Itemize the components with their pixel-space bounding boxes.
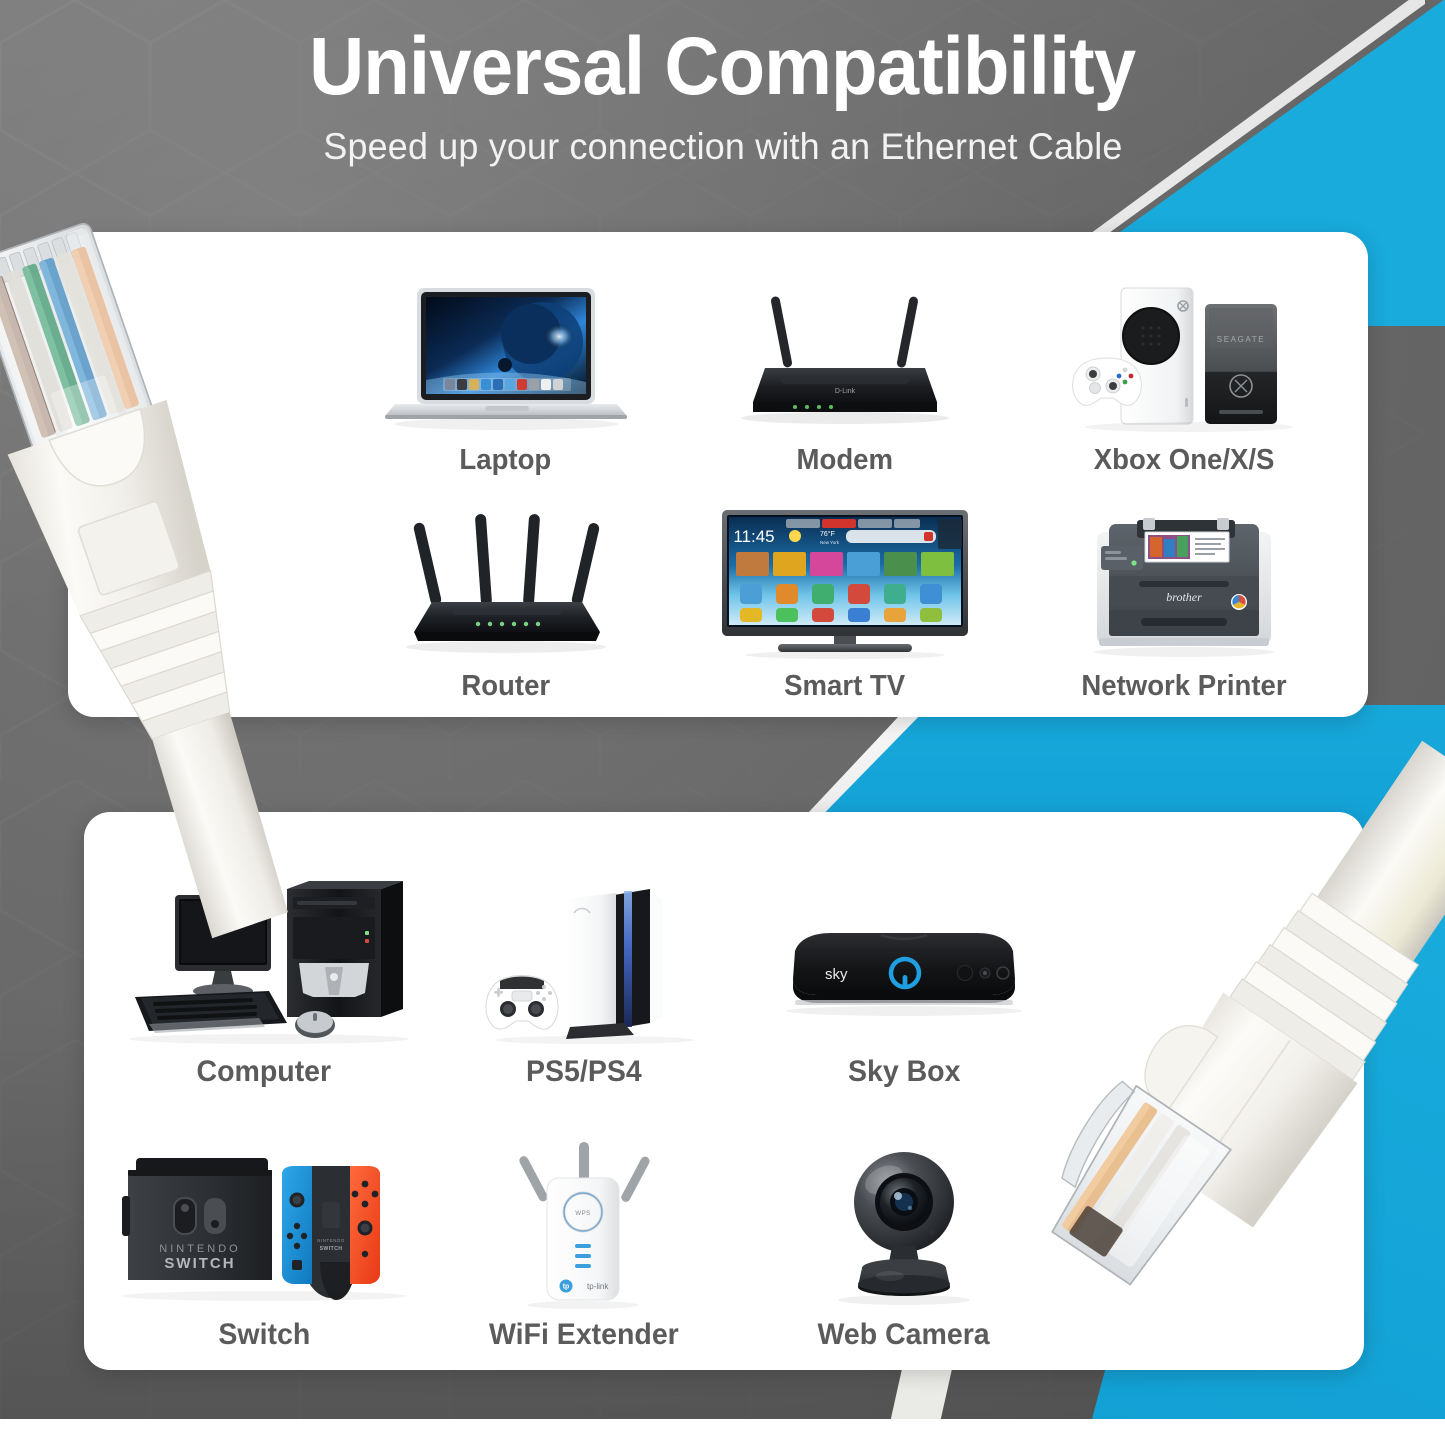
device-label: Modem: [797, 444, 893, 477]
device-item-switch: NINTENDO SWITCH: [104, 1089, 424, 1352]
device-label: Router: [461, 670, 550, 703]
device-item-printer: brother Network Print: [1015, 477, 1354, 704]
infographic-canvas: Universal Compatibility Speed up your co…: [0, 0, 1445, 1445]
device-label: Network Printer: [1082, 670, 1287, 703]
device-item-laptop: Laptop: [336, 250, 675, 477]
device-label: PS5/PS4: [526, 1055, 642, 1089]
svg-text:tp: tp: [563, 1284, 570, 1291]
smart-tv-icon: 11:45 76°F New York: [675, 506, 1014, 658]
device-label: Web Camera: [818, 1318, 990, 1352]
rj45-connector-bottom-right: [1048, 872, 1445, 1432]
svg-text:NINTENDO: NINTENDO: [317, 1238, 345, 1243]
device-label: Sky Box: [848, 1055, 960, 1089]
device-item-router: Router: [336, 477, 675, 704]
tv-temp: 76°F: [820, 530, 835, 538]
device-item-modem: D-Link Modem: [675, 250, 1014, 477]
page-subtitle: Speed up your connection with an Etherne…: [323, 126, 1122, 168]
svg-text:SWITCH: SWITCH: [164, 1255, 235, 1272]
svg-text:SEAGATE: SEAGATE: [1217, 335, 1265, 344]
xbox-console-icon: SEAGATE: [1015, 280, 1354, 432]
device-item-xbox: SEAGATE: [1015, 250, 1354, 477]
device-label: WiFi Extender: [489, 1318, 679, 1352]
wps-button-label: WPS: [575, 1211, 590, 1217]
device-item-wifi-extender: WPS tp tp-link WiFi: [424, 1089, 744, 1352]
device-item-playstation: PS5/PS4: [424, 826, 744, 1089]
modem-icon: D-Link: [675, 280, 1014, 432]
device-label: Xbox One/X/S: [1094, 444, 1275, 477]
svg-text:D-Link: D-Link: [835, 388, 856, 395]
svg-text:New York: New York: [820, 540, 840, 545]
sky-box-icon: sky: [744, 877, 1064, 1045]
playstation-console-icon: [424, 877, 744, 1045]
device-label: Computer: [197, 1055, 332, 1089]
rj45-connector-top-left: [0, 236, 322, 826]
device-label: Smart TV: [785, 670, 906, 703]
nintendo-switch-icon: NINTENDO SWITCH: [104, 1140, 424, 1308]
wifi-extender-icon: WPS tp tp-link: [424, 1140, 744, 1308]
web-camera-icon: [744, 1140, 1064, 1308]
device-item-sky-box: sky Sky Box: [744, 826, 1064, 1089]
page-title: Universal Compatibility: [309, 26, 1135, 108]
device-item-smart-tv: 11:45 76°F New York: [675, 477, 1014, 704]
printer-icon: brother: [1015, 506, 1354, 658]
svg-text:SWITCH: SWITCH: [320, 1246, 343, 1252]
printer-brand-text: brother: [1167, 590, 1203, 604]
header: Universal Compatibility Speed up your co…: [0, 0, 1445, 210]
device-label: Switch: [218, 1318, 310, 1352]
tv-clock: 11:45: [733, 527, 774, 546]
device-item-web-camera: Web Camera: [744, 1089, 1064, 1352]
device-label: Laptop: [460, 444, 552, 477]
router-icon: [336, 506, 675, 658]
sky-brand-text: sky: [825, 966, 848, 983]
laptop-icon: [336, 280, 675, 432]
extender-brand-text: tp-link: [587, 1282, 609, 1291]
svg-text:NINTENDO: NINTENDO: [159, 1243, 240, 1255]
